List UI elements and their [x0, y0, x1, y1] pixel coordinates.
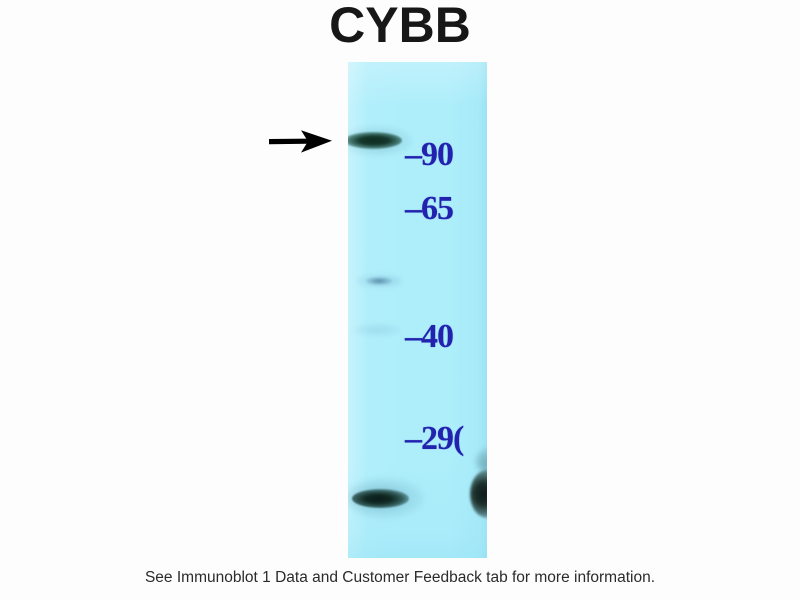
molecular-weight-marker-40: –40: [405, 320, 453, 354]
page-title: CYBB: [0, 0, 800, 52]
band-pointer-arrow: [268, 128, 334, 154]
blot-membrane: –90 –65 –40 –29( –22: [348, 62, 487, 558]
band-23kda: [352, 489, 409, 508]
molecular-weight-marker-90: –90: [405, 138, 453, 172]
band-33kda-smear: [354, 324, 400, 336]
molecular-weight-marker-65: –65: [405, 192, 453, 226]
molecular-weight-marker-29: –29(: [405, 422, 463, 456]
band-40kda: [366, 277, 392, 285]
figure-caption: See Immunoblot 1 Data and Customer Feedb…: [0, 569, 800, 587]
western-blot-figure: CYBB –90 –65 –40 –29( –22 See Immunoblot…: [0, 0, 800, 600]
